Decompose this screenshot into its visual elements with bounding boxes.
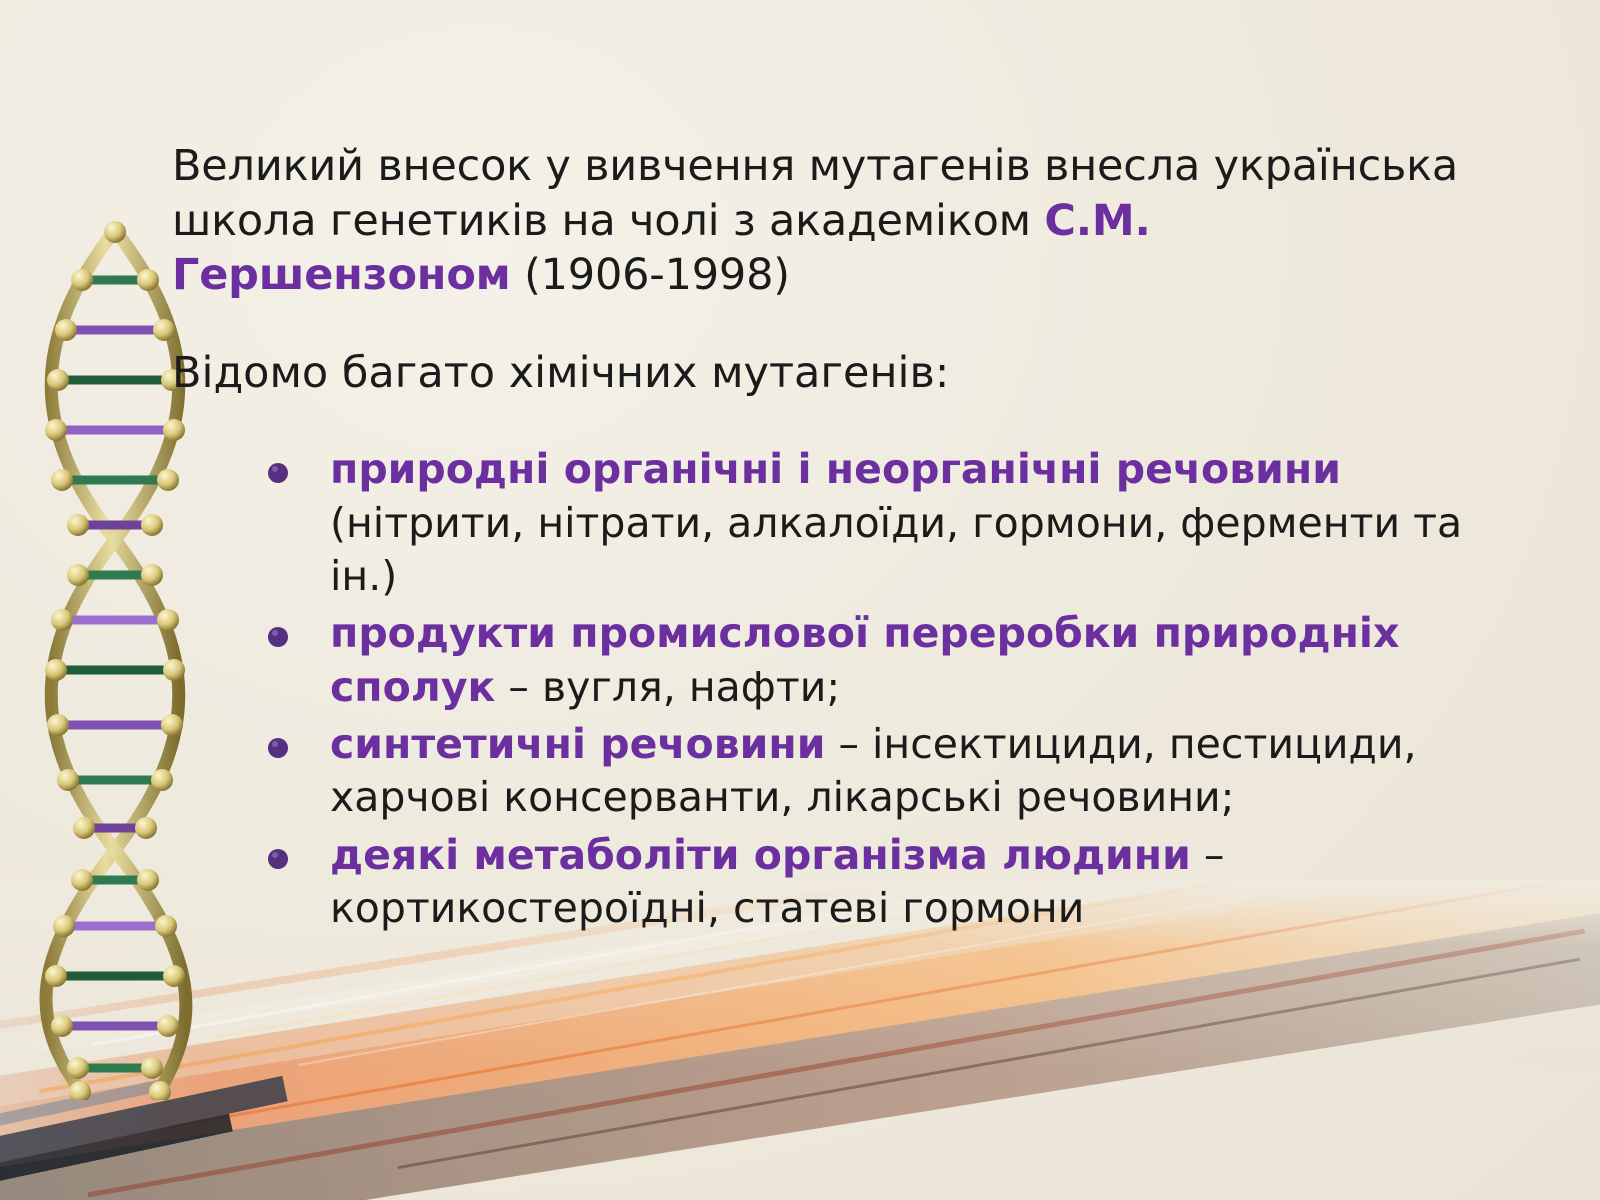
list-item: продукти промислової переробки природніх… bbox=[258, 607, 1502, 714]
list-item: природні органічні і неорганічні речовин… bbox=[258, 443, 1502, 603]
list-item-strong: природні органічні і неорганічні речовин… bbox=[330, 445, 1341, 493]
intro-line: Відомо багато хімічних мутагенів: bbox=[172, 346, 1502, 401]
list-item-strong: продукти промислової переробки природніх… bbox=[330, 609, 1399, 710]
mutagen-list: природні органічні і неорганічні речовин… bbox=[172, 443, 1502, 935]
bullet-icon bbox=[266, 736, 290, 760]
bullet-icon bbox=[266, 625, 290, 649]
list-item-rest: (нітрити, нітрати, алкалоїди, гормони, ф… bbox=[330, 499, 1462, 600]
list-item: деякі метаболіти організма людини – корт… bbox=[258, 829, 1502, 936]
slide-content: Великий внесок у вивчення мутагенів внес… bbox=[172, 96, 1502, 939]
list-item-rest: – вугля, нафти; bbox=[495, 663, 840, 711]
slide: Великий внесок у вивчення мутагенів внес… bbox=[0, 0, 1600, 1200]
intro-text-part1: Великий внесок у вивчення мутагенів внес… bbox=[172, 141, 1458, 246]
list-item-strong: деякі метаболіти організма людини bbox=[330, 831, 1191, 879]
bullet-icon bbox=[266, 847, 290, 871]
list-item-strong: синтетичні речовини bbox=[330, 720, 825, 768]
scientist-years: (1906-1998) bbox=[511, 250, 790, 300]
intro-paragraph: Великий внесок у вивчення мутагенів внес… bbox=[172, 139, 1502, 303]
list-item: синтетичні речовини – інсектициди, пести… bbox=[258, 718, 1502, 825]
bullet-icon bbox=[266, 461, 290, 485]
